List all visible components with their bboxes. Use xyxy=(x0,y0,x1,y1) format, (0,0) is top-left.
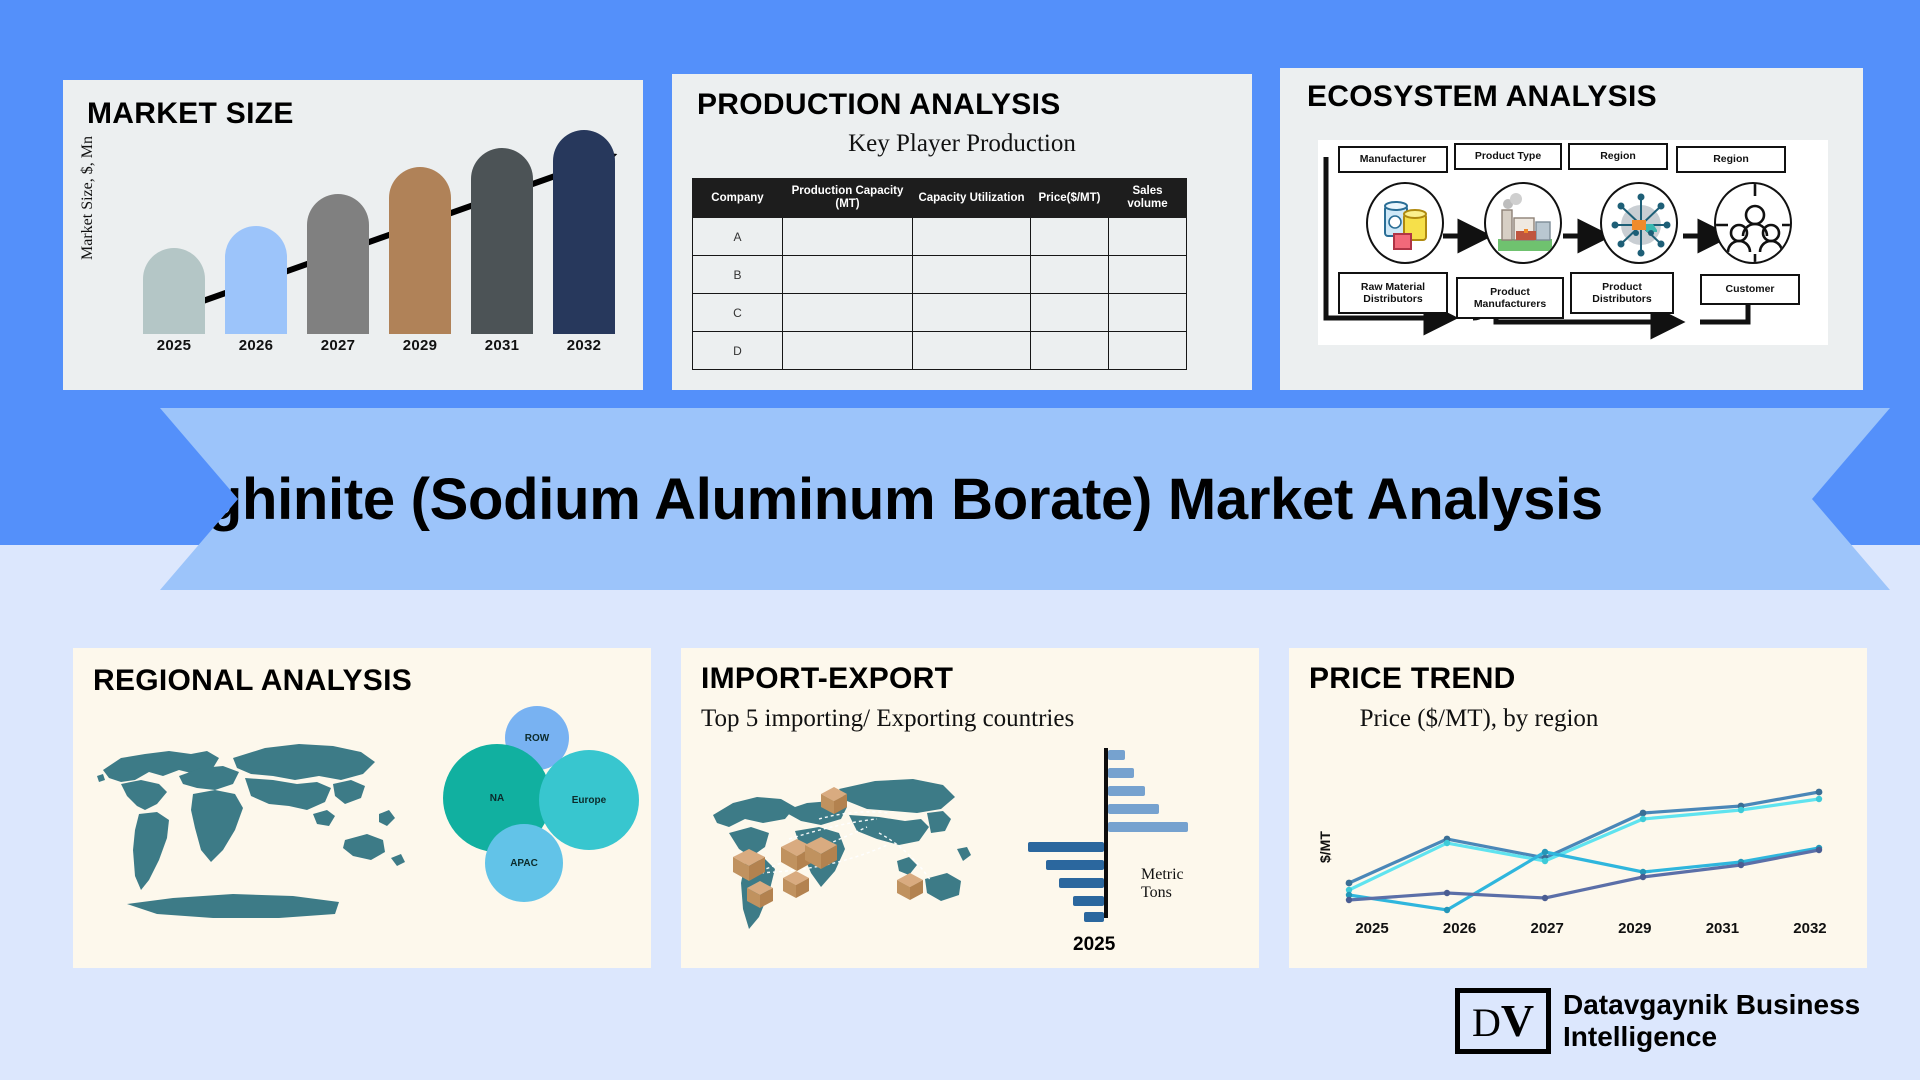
import-export-title: IMPORT-EXPORT xyxy=(701,662,953,696)
page-title: Ameghinite (Sodium Aluminum Borate) Mark… xyxy=(82,466,1603,533)
price-trend-series-region-4 xyxy=(1346,847,1822,903)
logo-wordmark: Datavgaynik Business Intelligence xyxy=(1563,989,1893,1053)
price-trend-subtitle: Price ($/MT), by region xyxy=(1339,703,1619,734)
panel-market-size: MARKET SIZE Market Size, $, Mn CAGR 2025… xyxy=(63,80,643,390)
price-trend-series-region-3 xyxy=(1346,845,1822,913)
cell-company: D xyxy=(693,332,783,370)
cell-sales-volume xyxy=(1109,218,1187,256)
price-trend-tick-2: 2027 xyxy=(1516,920,1578,937)
distribution-network-icon xyxy=(1600,182,1678,264)
main-title-banner: Ameghinite (Sodium Aluminum Borate) Mark… xyxy=(30,408,1890,590)
eco-box-product-distributors: Product Distributors xyxy=(1570,272,1674,314)
eco-box-product-type: Product Type xyxy=(1454,143,1562,170)
eco-box-product-manufacturers: Product Manufacturers xyxy=(1456,277,1564,319)
column-header-sales-volume: Sales volume xyxy=(1109,179,1187,218)
tornado-bar-import-1 xyxy=(1108,750,1125,760)
table-row: C xyxy=(693,294,1187,332)
cell-capacity-utilization xyxy=(913,218,1031,256)
market-size-bar-3: 2029 xyxy=(389,167,451,354)
panel-regional-analysis: REGIONAL ANALYSIS ROW NA Europe APAC xyxy=(73,648,651,968)
price-trend-tick-4: 2031 xyxy=(1691,920,1753,937)
regional-analysis-title: REGIONAL ANALYSIS xyxy=(93,664,412,698)
panel-production-analysis: PRODUCTION ANALYSIS Key Player Productio… xyxy=(672,74,1252,390)
cell-sales-volume xyxy=(1109,256,1187,294)
eco-box-raw-material-distributors: Raw Material Distributors xyxy=(1338,272,1448,314)
tornado-bar-export-5 xyxy=(1084,912,1104,922)
market-size-bar-label-1: 2026 xyxy=(225,337,287,354)
price-trend-line-chart xyxy=(1341,776,1841,916)
cell-company: A xyxy=(693,218,783,256)
cell-price xyxy=(1031,294,1109,332)
tornado-bar-export-1 xyxy=(1028,842,1104,852)
cell-sales-volume xyxy=(1109,332,1187,370)
market-size-bar-1: 2026 xyxy=(225,226,287,354)
cell-company: B xyxy=(693,256,783,294)
eco-box-customer: Customer xyxy=(1700,274,1800,305)
eco-box-region-2: Region xyxy=(1676,146,1786,173)
panel-import-export: IMPORT-EXPORT Top 5 importing/ Exporting… xyxy=(681,648,1259,968)
cell-sales-volume xyxy=(1109,294,1187,332)
price-trend-tick-0: 2025 xyxy=(1341,920,1403,937)
tornado-bar-import-4 xyxy=(1108,804,1159,814)
barrels-icon xyxy=(1366,182,1444,264)
cell-production-capacity xyxy=(783,256,913,294)
market-size-y-axis-label: Market Size, $, Mn xyxy=(79,136,97,260)
market-size-bar-label-4: 2031 xyxy=(471,337,533,354)
market-size-bar-4: 2031 xyxy=(471,148,533,354)
price-trend-series-region-2 xyxy=(1346,796,1822,893)
price-trend-tick-5: 2032 xyxy=(1779,920,1841,937)
market-size-bar-label-3: 2029 xyxy=(389,337,451,354)
panel-price-trend: PRICE TREND Price ($/MT), by region $/MT xyxy=(1289,648,1867,968)
eco-box-region-1: Region xyxy=(1568,143,1668,170)
cell-price xyxy=(1031,218,1109,256)
table-row: D xyxy=(693,332,1187,370)
cell-price xyxy=(1031,256,1109,294)
ecosystem-analysis-title: ECOSYSTEM ANALYSIS xyxy=(1307,80,1657,114)
panel-ecosystem-analysis: ECOSYSTEM ANALYSIS Manufacturer Product … xyxy=(1280,68,1863,390)
import-export-tornado-chart: Metric Tons 2025 xyxy=(1001,748,1201,933)
cell-production-capacity xyxy=(783,294,913,332)
ecosystem-flow-diagram: Manufacturer Product Type Region Region xyxy=(1318,140,1828,345)
market-size-bar-label-0: 2025 xyxy=(143,337,205,354)
table-row: A xyxy=(693,218,1187,256)
cell-production-capacity xyxy=(783,332,913,370)
tornado-bar-export-2 xyxy=(1046,860,1104,870)
column-header-company: Company xyxy=(693,179,783,218)
company-logo: DV Datavgaynik Business Intelligence xyxy=(1455,988,1893,1054)
cell-company: C xyxy=(693,294,783,332)
production-analysis-subtitle: Key Player Production xyxy=(672,128,1252,159)
market-size-bar-2: 2027 xyxy=(307,194,369,354)
factory-icon xyxy=(1484,182,1562,264)
market-size-bar-0: 2025 xyxy=(143,248,205,354)
cell-capacity-utilization xyxy=(913,294,1031,332)
price-trend-series-region-1 xyxy=(1346,789,1823,887)
tornado-bar-import-2 xyxy=(1108,768,1134,778)
column-header-production-capacity: Production Capacity (MT) xyxy=(783,179,913,218)
market-size-title: MARKET SIZE xyxy=(87,97,294,131)
column-header-price: Price($/MT) xyxy=(1031,179,1109,218)
price-trend-tick-3: 2029 xyxy=(1604,920,1666,937)
region-bubble-apac: APAC xyxy=(485,824,563,902)
market-size-bar-chart: CAGR 2025 2026 2027 2029 2031 2032 xyxy=(137,150,627,382)
import-export-year-label: 2025 xyxy=(1073,934,1115,956)
tornado-bar-import-3 xyxy=(1108,786,1145,796)
table-header-row: Company Production Capacity (MT) Capacit… xyxy=(693,179,1187,218)
price-trend-x-axis: 2025 2026 2027 2029 2031 2032 xyxy=(1341,920,1841,937)
tornado-bar-export-3 xyxy=(1059,878,1104,888)
tornado-bar-import-5 xyxy=(1108,822,1188,832)
cell-production-capacity xyxy=(783,218,913,256)
price-trend-title: PRICE TREND xyxy=(1309,662,1516,696)
cell-price xyxy=(1031,332,1109,370)
customers-group-icon xyxy=(1714,182,1792,264)
region-bubble-europe: Europe xyxy=(539,750,639,850)
import-export-subtitle: Top 5 importing/ Exporting countries xyxy=(701,703,1221,734)
tornado-bar-export-4 xyxy=(1073,896,1104,906)
logo-mark-dv: DV xyxy=(1455,988,1551,1054)
metric-tons-axis-label: Metric Tons xyxy=(1141,866,1201,902)
world-map-icon xyxy=(83,718,423,933)
production-analysis-title: PRODUCTION ANALYSIS xyxy=(697,88,1061,122)
logo-mark-letters: DV xyxy=(1472,998,1534,1044)
price-trend-y-axis-label: $/MT xyxy=(1317,831,1333,863)
world-trade-map-icon xyxy=(699,753,999,943)
price-trend-tick-1: 2026 xyxy=(1429,920,1491,937)
market-size-bar-label-2: 2027 xyxy=(307,337,369,354)
region-bubble-chart: ROW NA Europe APAC xyxy=(443,706,633,911)
key-player-production-table: Company Production Capacity (MT) Capacit… xyxy=(692,178,1187,370)
market-size-bar-label-5: 2032 xyxy=(553,337,615,354)
market-size-bar-5: 2032 xyxy=(553,130,615,354)
column-header-capacity-utilization: Capacity Utilization xyxy=(913,179,1031,218)
table-row: B xyxy=(693,256,1187,294)
cell-capacity-utilization xyxy=(913,332,1031,370)
eco-box-manufacturer: Manufacturer xyxy=(1338,146,1448,173)
cell-capacity-utilization xyxy=(913,256,1031,294)
